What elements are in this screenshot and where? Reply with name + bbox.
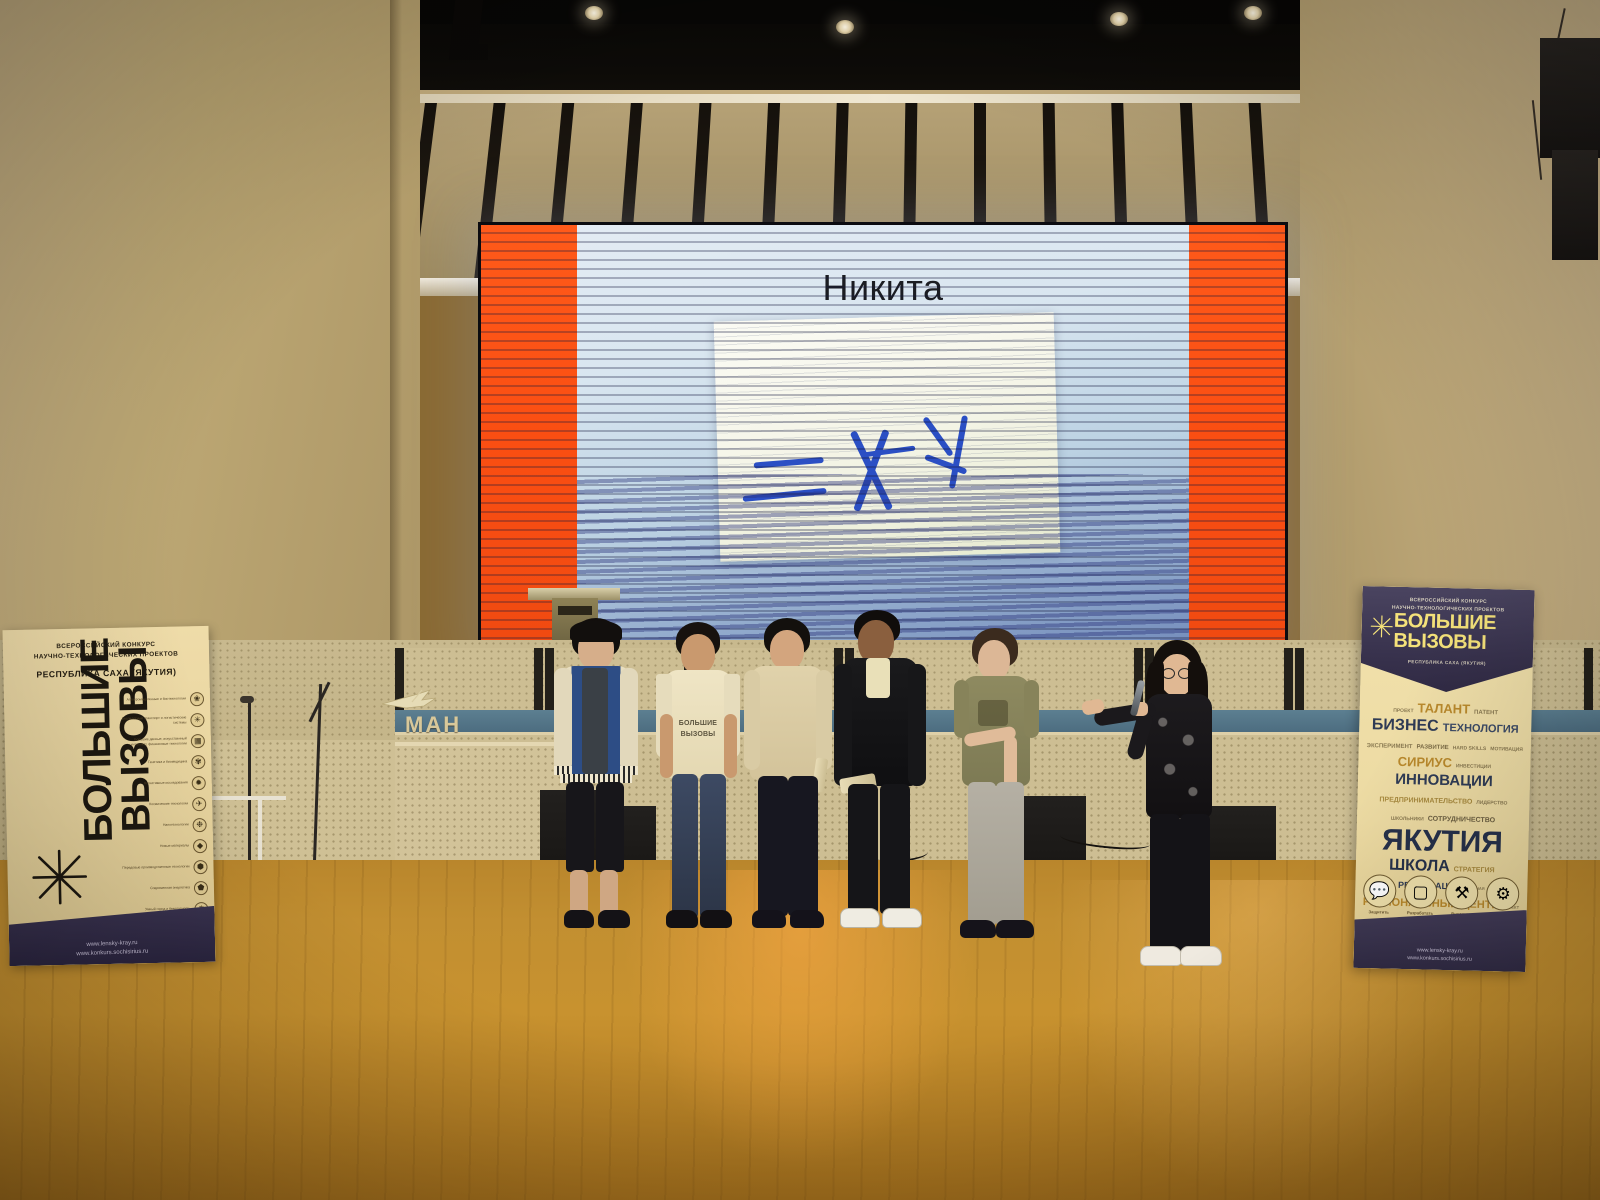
forearm-left — [660, 714, 673, 778]
word-cloud-term: РАЗВИТИЕ — [1416, 744, 1448, 751]
direction-label: Новые материалы — [121, 844, 189, 850]
pillar-item: ⚒Внедрить — [1443, 876, 1480, 917]
tshirt-graphic — [978, 700, 1008, 726]
right-banner-title-word2: ВЫЗОВЫ — [1393, 631, 1529, 655]
direction-row: Беспилотный транспорт и логистические си… — [118, 709, 204, 732]
stand-table — [204, 796, 286, 800]
stage-ledge-left — [190, 740, 400, 864]
starburst-logo-icon — [1369, 614, 1394, 639]
direction-label: Передовые производственные технологии — [121, 865, 189, 871]
material-icon: ◆ — [193, 838, 207, 852]
pillar-item: 💬Защитить — [1361, 874, 1398, 915]
sneaker-right — [996, 920, 1034, 938]
stage-photo-scene: Никита МАН — [0, 0, 1600, 1200]
direction-label: Когнитивные исследования — [120, 781, 188, 787]
word-cloud-term: ПРОЕКТ — [1393, 709, 1413, 715]
sweatpant-left — [968, 782, 996, 926]
shorts-left — [566, 782, 594, 872]
direction-row: Большие данные, искусственный интеллект,… — [119, 730, 205, 753]
shoe-right — [700, 910, 732, 928]
person-student-2: БОЛЬШИЕ ВЫЗОВЫ — [648, 622, 748, 934]
trouser-left — [1150, 814, 1180, 954]
sleeve-left — [954, 680, 969, 738]
person-student-4 — [826, 610, 934, 940]
ceiling-rig — [470, 44, 488, 60]
direction-label: Современная энергетика — [122, 886, 190, 892]
left-banner-direction-list: Агропромышленные и биотехнологии❀Беспило… — [118, 688, 209, 942]
word-cloud-term: ПАТЕНТ — [1474, 710, 1498, 717]
sneaker-left — [840, 908, 880, 928]
sleeve-left — [834, 664, 852, 786]
direction-label: Агропромышленные и биотехнологии — [118, 697, 186, 703]
right-banner-title: БОЛЬШИЕ ВЫЗОВЫ — [1393, 611, 1530, 655]
inner-shirt — [582, 668, 608, 774]
direction-row: Новые материалы◆ — [121, 835, 207, 858]
direction-row: Агропромышленные и биотехнологии❀ — [118, 688, 204, 711]
leg-right — [600, 870, 618, 914]
word-cloud-term: ТАЛАНТ — [1417, 701, 1470, 716]
chip-icon: ▦ — [191, 733, 205, 747]
molecule-icon: ❉ — [192, 817, 206, 831]
tshirt-logo-line1: БОЛЬШИЕ — [664, 720, 732, 729]
hanging-speaker-lower — [1552, 150, 1598, 260]
spotlight — [585, 6, 603, 20]
rocket-icon: ✈ — [192, 796, 206, 810]
spotlight — [836, 20, 854, 34]
man-sign: МАН — [405, 712, 461, 738]
jeans-left — [672, 774, 698, 918]
leg-left — [570, 870, 588, 914]
hanging-speaker — [1540, 38, 1600, 158]
direction-label: Генетика и биомедицина — [119, 760, 187, 766]
tshirt: БОЛЬШИЕ ВЫЗОВЫ — [664, 670, 732, 778]
head — [978, 640, 1010, 680]
direction-label: Большие данные, искусственный интеллект,… — [119, 737, 187, 747]
energy-icon: ⬟ — [194, 880, 208, 894]
shoe-right — [598, 910, 630, 928]
word-cloud-term: БИЗНЕС — [1372, 717, 1439, 735]
snowflake-icon: ✳ — [190, 712, 204, 726]
shoe-left — [564, 910, 594, 928]
word-cloud-term: СИРИУС — [1398, 755, 1453, 770]
direction-row: Генетика и биомедицина✾ — [119, 751, 205, 774]
word-cloud-term: HARD SKILLS — [1453, 746, 1487, 752]
tshirt-logo-line2: ВЫЗОВЫ — [664, 731, 732, 740]
word-cloud-term: ЭКСПЕРИМЕНТ — [1367, 743, 1413, 750]
speech-bubble-icon: 💬 — [1362, 874, 1396, 908]
word-cloud-term: СТРАТЕГИЯ — [1454, 866, 1495, 874]
jeans-right — [700, 774, 726, 918]
sneaker-right — [1180, 946, 1222, 966]
direction-row: Космические технологии✈ — [120, 793, 206, 816]
sleeve-left — [744, 670, 760, 770]
word-cloud-term: ИННОВАЦИИ — [1395, 772, 1493, 790]
sneaker-left — [960, 920, 996, 938]
dna-icon: ✾ — [191, 754, 205, 768]
trouser-left — [848, 784, 878, 914]
direction-label: Беспилотный транспорт и логистические си… — [118, 716, 186, 726]
pillar-item: ▢Разработать — [1402, 875, 1439, 916]
hair-front — [570, 620, 622, 642]
right-banner[interactable]: ВСЕРОССИЙСКИЙ КОНКУРС НАУЧНО-ТЕХНОЛОГИЧЕ… — [1353, 586, 1534, 972]
hex-icon: ⬢ — [193, 859, 207, 873]
shoe-left — [752, 910, 786, 928]
trouser-left — [758, 776, 788, 916]
word-cloud-term: ИНВЕСТИЦИИ — [1456, 764, 1491, 770]
brain-icon: ✹ — [192, 775, 206, 789]
jacket-sleeve-left — [554, 668, 572, 772]
sleeve-right — [908, 664, 926, 786]
microphone-head-icon — [240, 696, 254, 703]
pillar-label: Защитить — [1361, 909, 1397, 915]
tshirt — [750, 666, 824, 780]
word-cloud-term: ШКОЛА — [1389, 857, 1450, 875]
jacket-sleeve-right — [620, 668, 638, 772]
direction-label: Нанотехнологии — [121, 823, 189, 829]
shoe-right — [790, 910, 824, 928]
forearm — [1004, 736, 1017, 788]
word-cloud-term: ЛИДЕРСТВО — [1476, 801, 1507, 807]
word-cloud-term: СОТРУДНИЧЕСТВО — [1428, 816, 1495, 825]
shoe-left — [666, 910, 698, 928]
word-cloud-term: ТЕХНОЛОГИЯ — [1443, 723, 1519, 736]
spotlight — [1244, 6, 1262, 20]
head — [681, 634, 715, 674]
trouser-right — [880, 784, 910, 914]
person-student-1 — [540, 618, 650, 934]
head — [770, 630, 804, 670]
microphone-stand[interactable] — [248, 700, 251, 870]
word-cloud-term: ЯКУТИЯ — [1382, 825, 1503, 859]
sleeve-right — [1024, 680, 1039, 738]
jacket-pattern — [1150, 702, 1208, 814]
seed-icon: ❀ — [190, 691, 204, 705]
left-banner[interactable]: ВСЕРОССИЙСКИЙ КОНКУРС НАУЧНО-ТЕХНОЛОГИЧЕ… — [3, 626, 216, 966]
person-presenter — [1076, 640, 1226, 980]
person-student-5 — [946, 628, 1046, 944]
sneaker-right — [882, 908, 922, 928]
lectern-plate — [558, 606, 592, 615]
direction-row: Нанотехнологии❉ — [120, 814, 206, 837]
tools-icon: ⚒ — [1445, 876, 1479, 910]
trouser-right — [1180, 814, 1210, 954]
model-airplane-icon — [378, 688, 438, 714]
device-icon: ▢ — [1404, 875, 1438, 909]
direction-label: Космические технологии — [120, 802, 188, 808]
stand-table-leg — [258, 800, 262, 864]
sweatpant-right — [996, 782, 1024, 926]
direction-row: Передовые производственные технологии⬢ — [121, 856, 207, 879]
direction-row: Современная энергетика⬟ — [122, 877, 208, 900]
word-cloud-term: ПРЕДПРИНИМАТЕЛЬСТВО — [1379, 796, 1472, 806]
handwritten-note-card — [714, 312, 1061, 561]
gears-icon: ⚙ — [1486, 877, 1520, 911]
slide-title: Никита — [481, 267, 1285, 309]
word-cloud-term: ШКОЛЬНИКИ — [1391, 817, 1424, 823]
pillar-label: Разработать — [1402, 910, 1438, 916]
sneaker-left — [1140, 946, 1182, 966]
right-banner-pillars: 💬Защитить▢Разработать⚒Внедрить⚙Произвест… — [1361, 874, 1522, 918]
shorts-right — [596, 782, 624, 872]
word-cloud: ПРОЕКТТАЛАНТПАТЕНТБИЗНЕСТЕХНОЛОГИЯЭКСПЕР… — [1360, 698, 1528, 850]
spotlight — [1110, 12, 1128, 26]
inner-collar — [866, 658, 890, 698]
person-student-3 — [736, 618, 840, 936]
starburst-logo-icon — [29, 846, 90, 907]
trouser-right — [788, 776, 818, 916]
direction-row: Когнитивные исследования✹ — [120, 772, 206, 795]
word-cloud-term: МОТИВАЦИЯ — [1490, 747, 1523, 753]
